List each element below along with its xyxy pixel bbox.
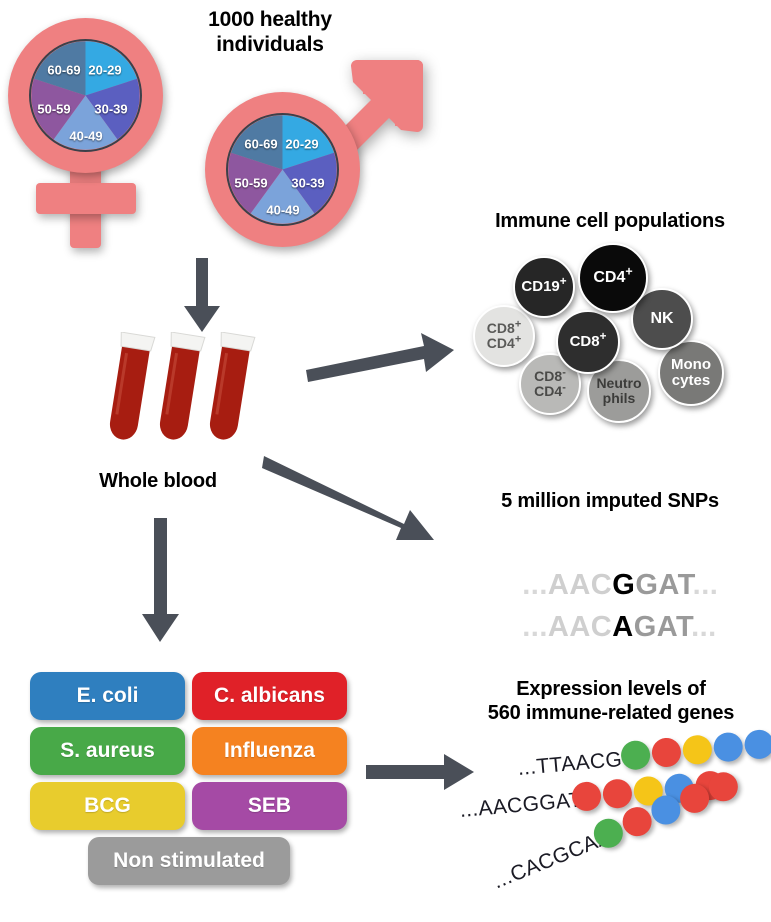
- snp-suffix: ...: [691, 611, 717, 643]
- cell-cd19p: CD19+: [513, 256, 575, 318]
- expression-chains: ...TTAACGG ...AACGGAT ...CACGCAA: [440, 735, 771, 915]
- cell-label: Monocytes: [671, 357, 711, 388]
- cell-cd4p: CD4+: [578, 243, 648, 313]
- chain-sequence: ...AACGGAT: [459, 788, 583, 823]
- stimuli-group: E. coli C. albicans S. aureus Influenza …: [30, 672, 350, 894]
- cell-cd8p: CD8+: [556, 310, 620, 374]
- stimulus-e-coli[interactable]: E. coli: [30, 672, 185, 720]
- cell-label: CD19+: [521, 279, 566, 295]
- snp-sequence-2: ...AACAGAT...: [488, 578, 717, 677]
- stimulus-influenza[interactable]: Influenza: [192, 727, 347, 775]
- cell-label: CD8+: [570, 334, 607, 350]
- cell-label: CD4+: [593, 270, 632, 287]
- bead: [743, 729, 771, 760]
- snp-after: GAT: [634, 611, 691, 643]
- stimulus-non-stimulated[interactable]: Non stimulated: [88, 837, 290, 885]
- bead: [651, 737, 682, 768]
- cell-label: CD8-CD4-: [534, 369, 566, 398]
- diagram-canvas: 1000 healthy individuals 20-29 30-39 40-…: [0, 0, 771, 922]
- snp-prefix: ...: [522, 611, 548, 643]
- arrow-blood-to-snps: [262, 448, 442, 548]
- expression-title-line2: 560 immune-related genes: [488, 702, 734, 724]
- stimulus-s-aureus[interactable]: S. aureus: [30, 727, 185, 775]
- bead: [602, 778, 633, 809]
- cell-cd8p-cd4p: CD8+CD4+: [473, 305, 535, 367]
- expression-title: Expression levels of 560 immune-related …: [455, 678, 767, 725]
- bead: [713, 731, 744, 762]
- cell-label: CD8+CD4+: [487, 321, 521, 350]
- snp-before: AAC: [548, 611, 612, 643]
- arrow-blood-to-stimuli: [140, 518, 182, 644]
- stimulus-seb[interactable]: SEB: [192, 782, 347, 830]
- immune-cell-cluster: CD8+CD4+ CD8-CD4- Neutrophils Monocytes …: [0, 0, 771, 430]
- bead: [682, 734, 713, 765]
- stimulus-bcg[interactable]: BCG: [30, 782, 185, 830]
- expression-title-line1: Expression levels of: [516, 678, 705, 700]
- cell-label: Neutrophils: [596, 376, 641, 405]
- whole-blood-label: Whole blood: [68, 470, 248, 494]
- cell-monocytes: Monocytes: [658, 340, 724, 406]
- snp-title: 5 million imputed SNPs: [455, 490, 765, 514]
- stimulus-c-albicans[interactable]: C. albicans: [192, 672, 347, 720]
- cell-label: NK: [650, 311, 673, 328]
- snp-variant: A: [612, 611, 633, 643]
